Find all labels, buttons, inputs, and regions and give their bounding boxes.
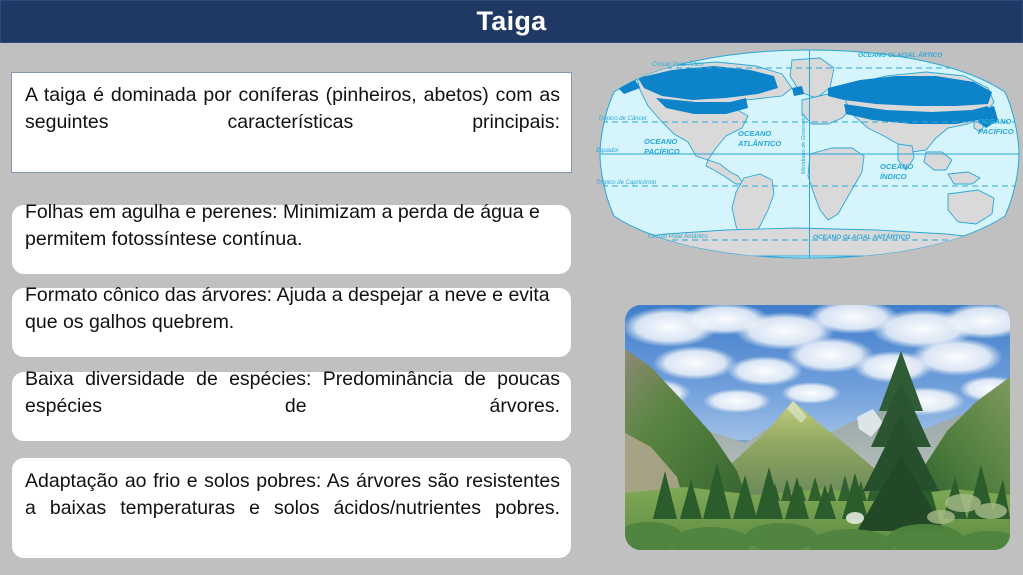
map-label-antarctic-circle: Círculo Polar Antártico xyxy=(648,234,708,240)
bullet-text: Adaptação ao frio e solos pobres: As árv… xyxy=(12,468,571,549)
map-label-equator: Equador xyxy=(596,148,620,154)
map-label-arctic-circle: Círculo Polar Ártico xyxy=(652,61,704,68)
taiga-photo xyxy=(625,305,1010,550)
page-title: Taiga xyxy=(476,8,546,35)
map-label-tropic-cancer: Trópico de Câncer xyxy=(598,116,648,122)
intro-text-box: A taiga é dominada por coníferas (pinhei… xyxy=(11,72,572,173)
slide-title-bar: Taiga xyxy=(0,0,1023,43)
map-label-tropic-capricorn: Trópico de Capricórnio xyxy=(596,180,657,186)
map-label-greenwich: Meridiano de Greenwich xyxy=(801,113,807,174)
bullet-box-adaptacao-frio: Adaptação ao frio e solos pobres: As árv… xyxy=(12,458,571,558)
map-label-pacific-west: OCEANOPACÍFICO xyxy=(644,137,680,156)
map-label-antarctic-ocean: OCEANO GLACIAL ANTÁRTICO xyxy=(813,232,910,241)
map-label-arctic-ocean: OCEANO GLACIAL ÁRTICO xyxy=(858,50,942,59)
bullet-text: Formato cônico das árvores: Ajuda a desp… xyxy=(12,282,571,363)
bullet-text: Folhas em agulha e perenes: Minimizam a … xyxy=(12,199,571,280)
clouds xyxy=(625,305,1010,415)
map-label-pacific-east: OCEANOPACÍFICO xyxy=(978,117,1014,136)
bullet-box-folhas-em-agulha: Folhas em agulha e perenes: Minimizam a … xyxy=(12,205,571,274)
bullet-box-formato-conico: Formato cônico das árvores: Ajuda a desp… xyxy=(12,288,571,357)
bullet-box-baixa-diversidade: Baixa diversidade de espécies: Predominâ… xyxy=(12,372,571,441)
intro-paragraph: A taiga é dominada por coníferas (pinhei… xyxy=(12,82,571,163)
white-rock xyxy=(846,512,864,524)
bullet-text: Baixa diversidade de espécies: Predominâ… xyxy=(12,366,571,447)
world-map-image: OCEANO GLACIAL ÁRTICO Círculo Polar Árti… xyxy=(596,44,1023,263)
